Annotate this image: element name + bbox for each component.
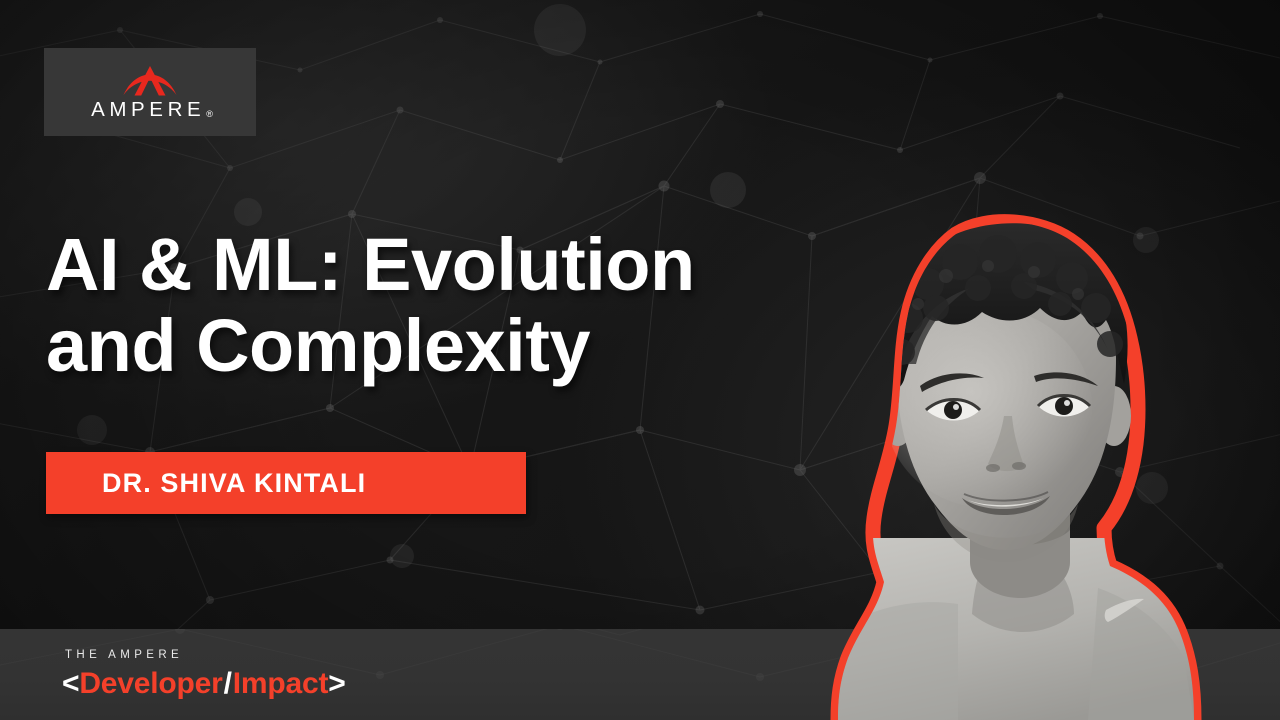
page-title: AI & ML: Evolution and Complexity [46,224,866,387]
ampere-wordmark-text: AMPERE [91,100,205,121]
title-line-2: and Complexity [46,305,866,386]
registered-trademark-icon: ® [206,110,213,119]
speaker-portrait [838,158,1194,720]
title-line-1: AI & ML: Evolution [46,224,866,305]
ampere-a-mark [121,64,179,98]
speaker-name: DR. SHIVA KINTALI [46,468,366,499]
ampere-logo-plate: AMPERE ® [44,48,256,136]
developer-impact-lockup: < Developer / Impact > [62,669,346,699]
speaker-name-badge: DR. SHIVA KINTALI [46,452,526,514]
brand-word-developer: Developer [79,669,222,699]
brand-word-impact: Impact [233,669,329,699]
brand-kicker: THE AMPERE [62,650,346,662]
ampere-wordmark: AMPERE ® [87,100,213,121]
close-angle-bracket-icon: > [328,669,345,699]
presentation-title-slide: AMPERE ® AI & ML: Evolution and Complexi… [0,0,1280,720]
open-angle-bracket-icon: < [62,669,79,699]
brand-lockup: THE AMPERE < Developer / Impact > [62,650,346,699]
brand-separator-slash: / [223,669,233,699]
